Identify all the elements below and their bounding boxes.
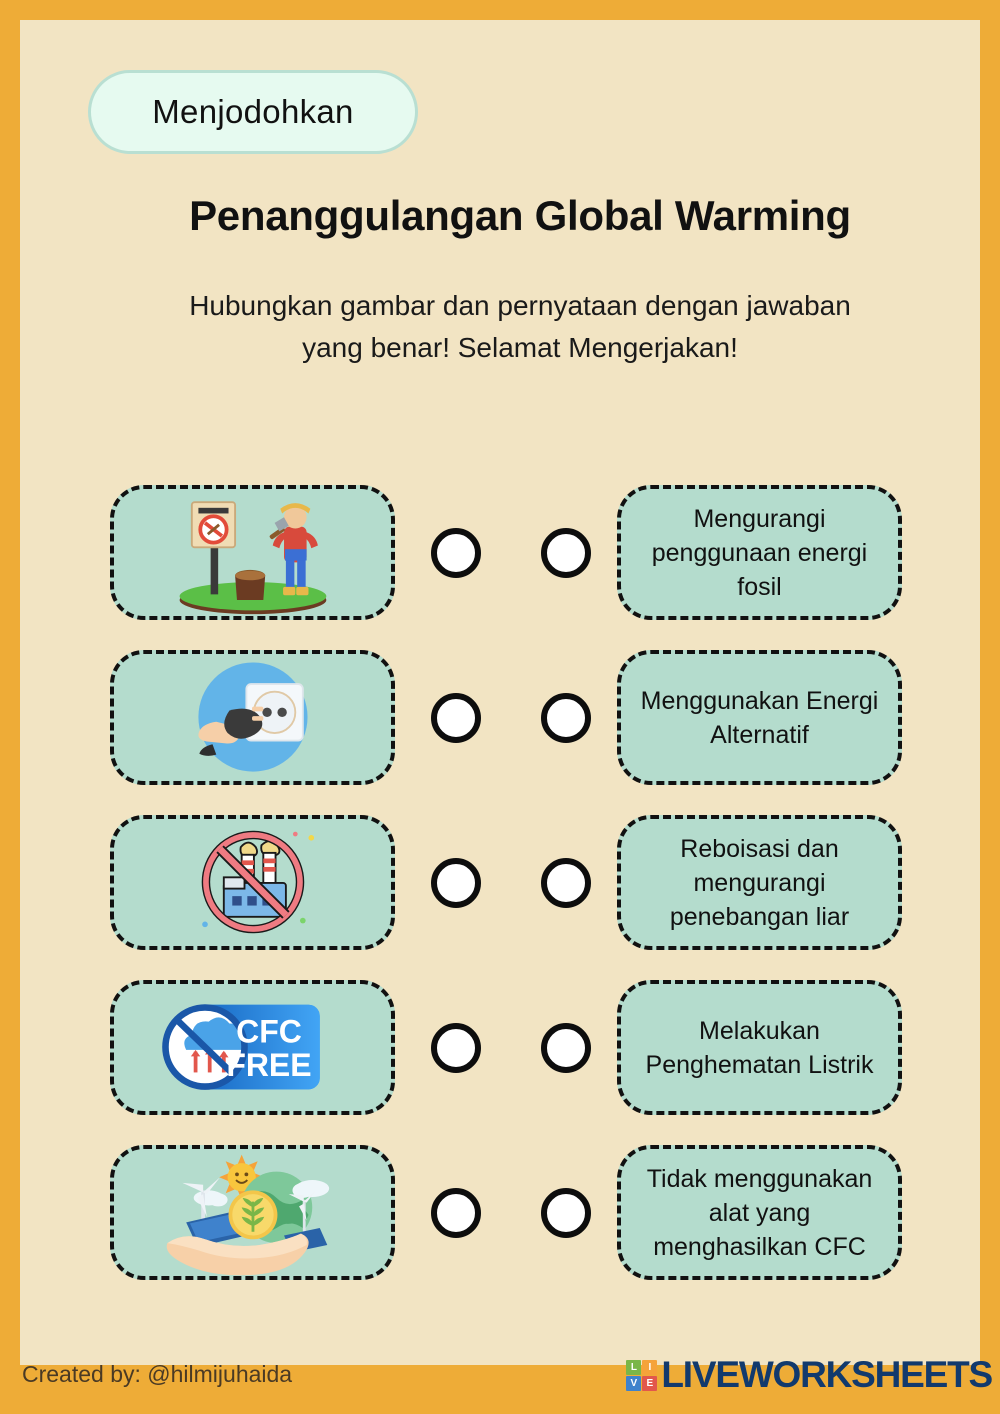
connect-dot-left[interactable]: [431, 693, 481, 743]
answer-card[interactable]: Menggunakan Energi Alternatif: [617, 650, 902, 785]
matching-row: CFC FREE Melakukan Penghematan Listrik: [20, 965, 1000, 1130]
instruction-line-2: yang benar! Selamat Mengerjakan!: [120, 327, 920, 369]
renewable-energy-hand-icon: [114, 1149, 391, 1276]
image-card[interactable]: CFC FREE: [110, 980, 395, 1115]
logo-square-v: V: [626, 1376, 641, 1391]
exercise-type-badge: Menjodohkan: [88, 70, 418, 154]
matching-rows: Mengurangi penggunaan energi fosil: [20, 470, 1000, 1295]
page-title: Penanggulangan Global Warming: [20, 192, 1000, 240]
connect-dot-right[interactable]: [541, 1188, 591, 1238]
instructions: Hubungkan gambar dan pernyataan dengan j…: [120, 285, 920, 369]
image-card[interactable]: [110, 1145, 395, 1280]
matching-row: Reboisasi dan mengurangi penebangan liar: [20, 800, 1000, 965]
connect-dot-right[interactable]: [541, 858, 591, 908]
liveworksheets-wordmark: LIVEWORKSHEETS: [661, 1354, 992, 1396]
answer-card[interactable]: Reboisasi dan mengurangi penebangan liar: [617, 815, 902, 950]
connect-dot-right[interactable]: [541, 1023, 591, 1073]
worksheet-page: Menjodohkan Penanggulangan Global Warmin…: [20, 20, 980, 1365]
connect-dot-left[interactable]: [431, 1023, 481, 1073]
connect-dot-left[interactable]: [431, 528, 481, 578]
answer-label: Melakukan Penghematan Listrik: [629, 1014, 890, 1082]
unplug-socket-icon: [114, 654, 391, 781]
answer-card[interactable]: Melakukan Penghematan Listrik: [617, 980, 902, 1115]
svg-text:FREE: FREE: [226, 1047, 311, 1083]
no-factory-emission-icon: [114, 819, 391, 946]
answer-label: Tidak menggunakan alat yang menghasilkan…: [629, 1162, 890, 1264]
matching-row: Mengurangi penggunaan energi fosil: [20, 470, 1000, 635]
cfc-free-badge-icon: CFC FREE: [114, 984, 391, 1111]
exercise-type-label: Menjodohkan: [152, 93, 353, 131]
instruction-line-1: Hubungkan gambar dan pernyataan dengan j…: [120, 285, 920, 327]
liveworksheets-logo-squares: L I V E: [626, 1360, 657, 1391]
image-card[interactable]: [110, 650, 395, 785]
logo-square-l: L: [626, 1360, 641, 1375]
matching-row: Menggunakan Energi Alternatif: [20, 635, 1000, 800]
logo-square-i: I: [642, 1360, 657, 1375]
answer-label: Reboisasi dan mengurangi penebangan liar: [629, 832, 890, 934]
answer-card[interactable]: Mengurangi penggunaan energi fosil: [617, 485, 902, 620]
no-logging-lumberjack-icon: [114, 489, 391, 616]
matching-row: Tidak menggunakan alat yang menghasilkan…: [20, 1130, 1000, 1295]
connect-dot-left[interactable]: [431, 858, 481, 908]
svg-text:CFC: CFC: [236, 1013, 302, 1049]
connect-dot-right[interactable]: [541, 693, 591, 743]
image-card[interactable]: [110, 485, 395, 620]
liveworksheets-logo[interactable]: L I V E LIVEWORKSHEETS: [626, 1354, 992, 1396]
connect-dot-left[interactable]: [431, 1188, 481, 1238]
answer-label: Mengurangi penggunaan energi fosil: [629, 502, 890, 604]
answer-card[interactable]: Tidak menggunakan alat yang menghasilkan…: [617, 1145, 902, 1280]
author-credit: Created by: @hilmijuhaida: [22, 1361, 292, 1388]
image-card[interactable]: [110, 815, 395, 950]
logo-square-e: E: [642, 1376, 657, 1391]
connect-dot-right[interactable]: [541, 528, 591, 578]
answer-label: Menggunakan Energi Alternatif: [629, 684, 890, 752]
